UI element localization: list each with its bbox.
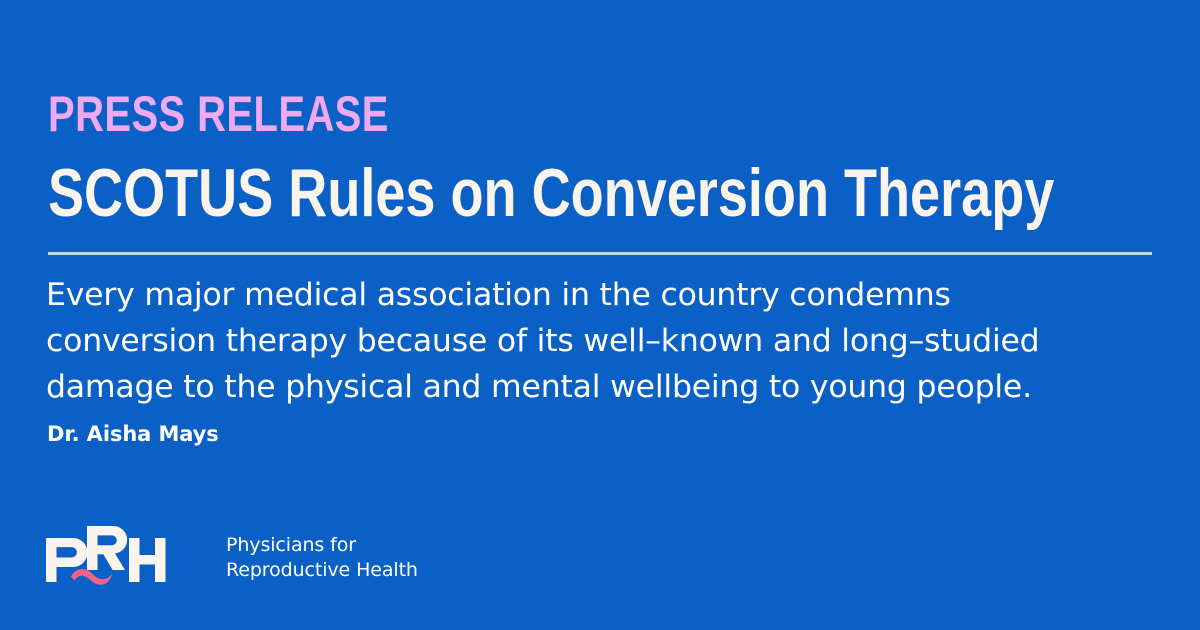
prh-logo-mark [44,524,166,588]
logo-tagline-line-2: Reproductive Health [226,558,418,583]
logo-letter-h-icon [129,538,166,582]
quote-line-3: damage to the physical and mental wellbe… [46,364,1156,410]
quote-body: Every major medical association in the c… [46,272,1156,410]
eyebrow-press-release-label: PRESS RELEASE [48,88,389,140]
logo-letter-r-icon [87,526,127,570]
horizontal-divider [48,252,1152,255]
quote-line-2: conversion therapy because of its well–k… [46,318,1156,364]
page-title: SCOTUS Rules on Conversion Therapy [48,158,1054,228]
prh-logo-lockup: Physicians for Reproductive Health [44,524,418,588]
press-release-card: PRESS RELEASE SCOTUS Rules on Conversion… [0,0,1200,630]
logo-tagline-line-1: Physicians for [226,533,418,558]
quote-line-1: Every major medical association in the c… [46,272,1156,318]
quote-attribution: Dr. Aisha Mays [47,420,219,448]
pink-wave-swash-icon [71,569,113,585]
prh-logo-svg [44,524,166,588]
logo-tagline: Physicians for Reproductive Health [226,524,418,583]
